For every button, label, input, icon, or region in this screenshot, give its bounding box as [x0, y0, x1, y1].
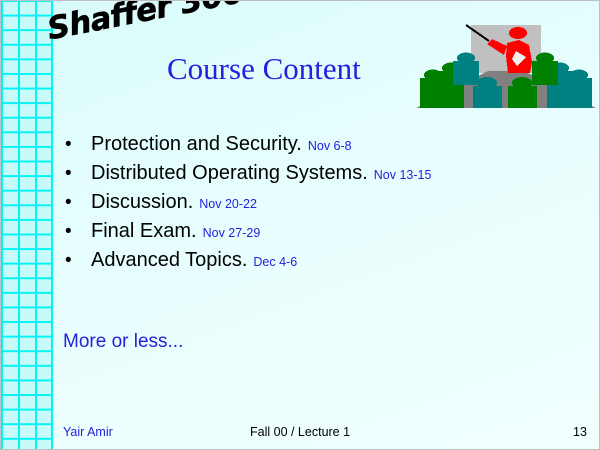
audience-head-mid-left — [457, 53, 475, 64]
audience-seat-mid-left — [453, 61, 479, 85]
bullet-item-label: Distributed Operating Systems.Nov 13-15 — [91, 159, 431, 190]
audience-seat-far-right — [566, 78, 592, 108]
bullet-item-date: Nov 27-29 — [197, 226, 261, 240]
bullet-item-date: Dec 4-6 — [247, 255, 297, 269]
audience-seat-mid-right — [532, 61, 558, 85]
bullet-item-text: Distributed Operating Systems. — [91, 162, 368, 184]
slide-title: Course Content — [167, 52, 361, 86]
bullet-point-icon: • — [65, 159, 72, 188]
decorative-grid-band — [1, 1, 53, 450]
audience-seat-far-left — [420, 78, 446, 108]
lecture-classroom-clipart — [416, 16, 596, 108]
footer-course-info: Fall 00 / Lecture 1 — [250, 425, 350, 439]
footer-author: Yair Amir — [63, 425, 113, 439]
bullet-item-label: Advanced Topics.Dec 4-6 — [91, 246, 297, 277]
bullet-item-date: Nov 13-15 — [368, 168, 432, 182]
bullet-point-icon: • — [65, 188, 72, 217]
wordart-shaffer-300: Shaffer 300 — [45, 0, 246, 45]
bullet-item-date: Nov 20-22 — [193, 197, 257, 211]
audience-seat-front-right — [508, 86, 537, 108]
bullet-item-date: Nov 6-8 — [302, 139, 352, 153]
audience-seat-front-left — [473, 86, 502, 108]
bullet-item-text: Discussion. — [91, 191, 193, 213]
bullet-point-icon: • — [65, 217, 72, 246]
list-item: • Advanced Topics.Dec 4-6 — [61, 246, 541, 275]
presenter-head-shape — [509, 27, 527, 39]
audience-head-front-left — [477, 77, 497, 89]
grid-band-edge — [51, 1, 53, 450]
list-item: • Discussion.Nov 20-22 — [61, 188, 541, 217]
list-item: • Final Exam.Nov 27-29 — [61, 217, 541, 246]
slide-note: More or less... — [63, 331, 183, 353]
bullet-item-label: Protection and Security.Nov 6-8 — [91, 130, 352, 161]
bullet-item-text: Protection and Security. — [91, 133, 302, 155]
bullet-item-label: Final Exam.Nov 27-29 — [91, 217, 260, 248]
bullet-point-icon: • — [65, 246, 72, 275]
bullet-item-label: Discussion.Nov 20-22 — [91, 188, 257, 219]
bullet-point-icon: • — [65, 130, 72, 159]
list-item: • Distributed Operating Systems.Nov 13-1… — [61, 159, 541, 188]
slide-canvas: Shaffer 300 Course Content — [0, 0, 600, 450]
audience-head-mid-right — [536, 53, 554, 64]
bullet-item-text: Advanced Topics. — [91, 249, 247, 271]
footer-page-number: 13 — [573, 425, 587, 439]
bullet-item-text: Final Exam. — [91, 220, 197, 242]
audience-head-far-right — [570, 70, 588, 81]
list-item: • Protection and Security.Nov 6-8 — [61, 130, 541, 159]
audience-head-far-left — [424, 70, 442, 81]
bullet-list: • Protection and Security.Nov 6-8 • Dist… — [61, 130, 541, 275]
audience-head-front-right — [512, 77, 532, 89]
